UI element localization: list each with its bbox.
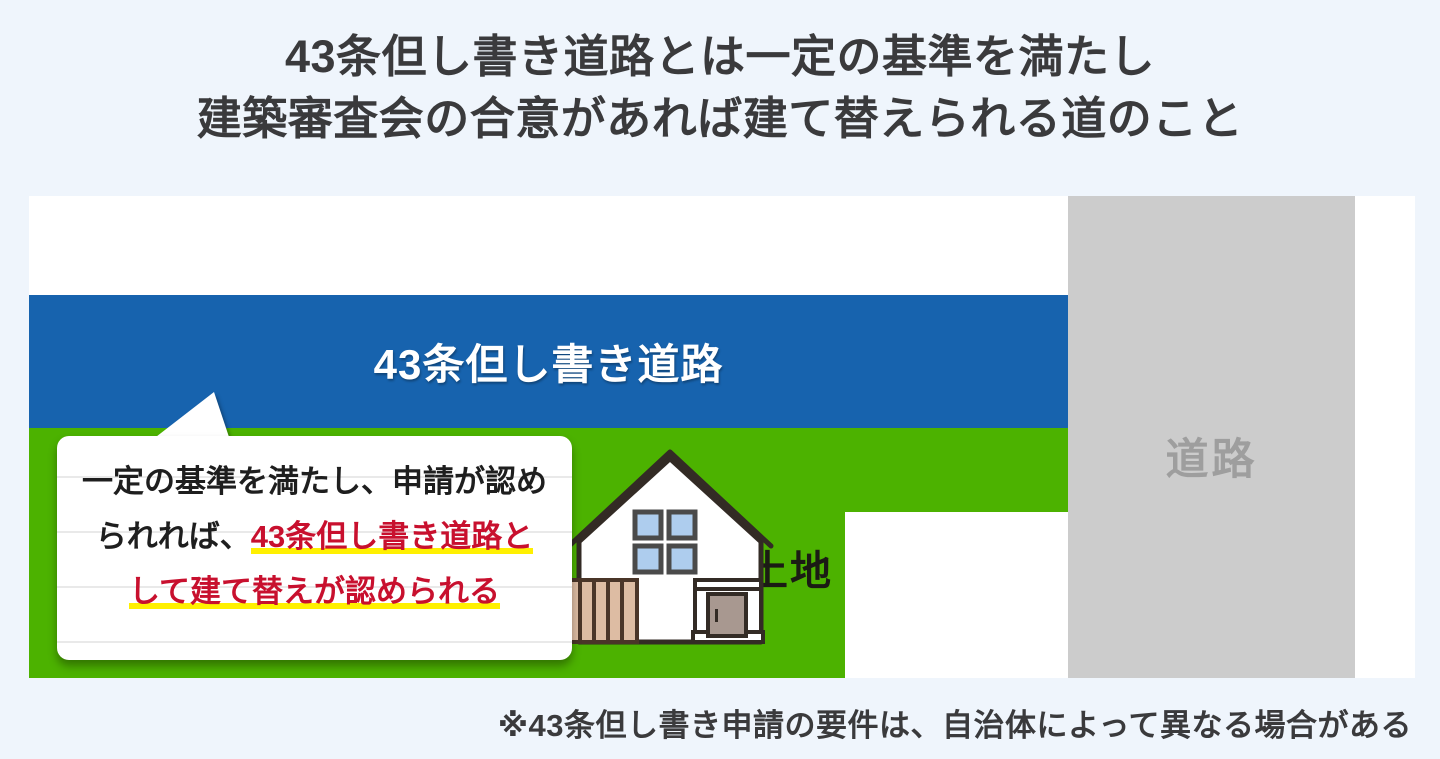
callout-text: 一定の基準を満たし、申請が認められれば、43条但し書き道路として建て替えが認めら… — [57, 436, 572, 660]
callout-highlight-3: 認められる — [345, 574, 500, 609]
page-title-line-2: 建築審査会の合意があれば建て替えられる道のこと — [0, 88, 1440, 150]
callout-tail-icon — [152, 390, 232, 440]
page-title: 43条但し書き道路とは一定の基準を満たし 建築審査会の合意があれば建て替えられる… — [0, 26, 1440, 150]
footnote: ※43条但し書き申請の要件は、自治体によって異なる場合がある — [0, 700, 1412, 745]
page-title-line-1: 43条但し書き道路とは一定の基準を満たし — [0, 26, 1440, 88]
house-illustration — [549, 446, 779, 656]
house-door-icon — [708, 594, 746, 636]
street-label: 道路 — [1068, 425, 1355, 487]
diagram-panel: 道路 土地 43条但し書き道路 — [29, 196, 1415, 678]
callout-highlight-1: 43条但し — [251, 519, 378, 554]
callout-body: 一定の基準を満たし、申請が認められれば、43条但し書き道路として建て替えが認めら… — [57, 436, 572, 660]
callout-bubble: 一定の基準を満たし、申請が認められれば、43条但し書き道路として建て替えが認めら… — [57, 436, 572, 660]
street-area: 道路 — [1068, 196, 1355, 678]
